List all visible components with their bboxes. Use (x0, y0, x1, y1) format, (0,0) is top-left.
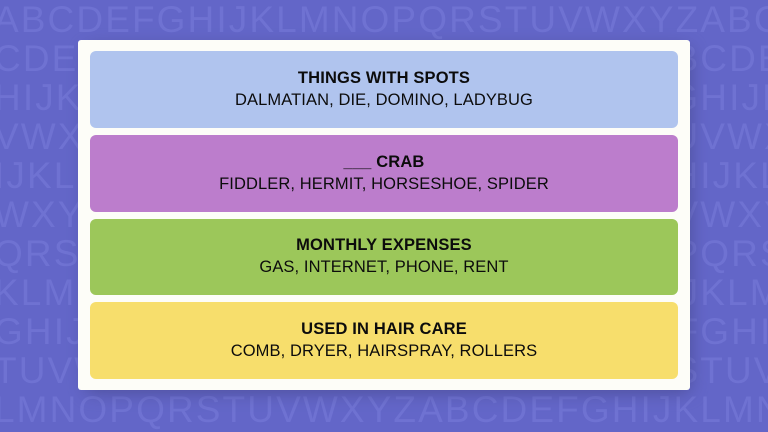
background-letter-row: LMNOPQRSTUVWXYZABCDEFGHIJKLMNOPQR (0, 390, 768, 429)
category-row-used-in-hair-care[interactable]: USED IN HAIR CARE COMB, DRYER, HAIRSPRAY… (90, 302, 678, 379)
category-title: THINGS WITH SPOTS (298, 68, 470, 88)
category-members: DALMATIAN, DIE, DOMINO, LADYBUG (235, 90, 533, 111)
background-letter-row: ABCDEFGHIJKLMNOPQRSTUVWXYZABCDEF (0, 0, 768, 39)
category-title: ___ CRAB (344, 152, 425, 172)
screenshot-stage: ABCDEFGHIJKLMNOPQRSTUVWXYZABCDEF CDEFGHI… (0, 0, 768, 432)
category-row-monthly-expenses[interactable]: MONTHLY EXPENSES GAS, INTERNET, PHONE, R… (90, 219, 678, 296)
category-members: FIDDLER, HERMIT, HORSESHOE, SPIDER (219, 174, 549, 195)
category-title: USED IN HAIR CARE (301, 319, 467, 339)
category-row-crab[interactable]: ___ CRAB FIDDLER, HERMIT, HORSESHOE, SPI… (90, 135, 678, 212)
answers-panel: THINGS WITH SPOTS DALMATIAN, DIE, DOMINO… (78, 40, 690, 390)
category-members: GAS, INTERNET, PHONE, RENT (259, 257, 508, 278)
category-members: COMB, DRYER, HAIRSPRAY, ROLLERS (231, 341, 538, 362)
category-row-things-with-spots[interactable]: THINGS WITH SPOTS DALMATIAN, DIE, DOMINO… (90, 51, 678, 128)
category-title: MONTHLY EXPENSES (296, 235, 472, 255)
